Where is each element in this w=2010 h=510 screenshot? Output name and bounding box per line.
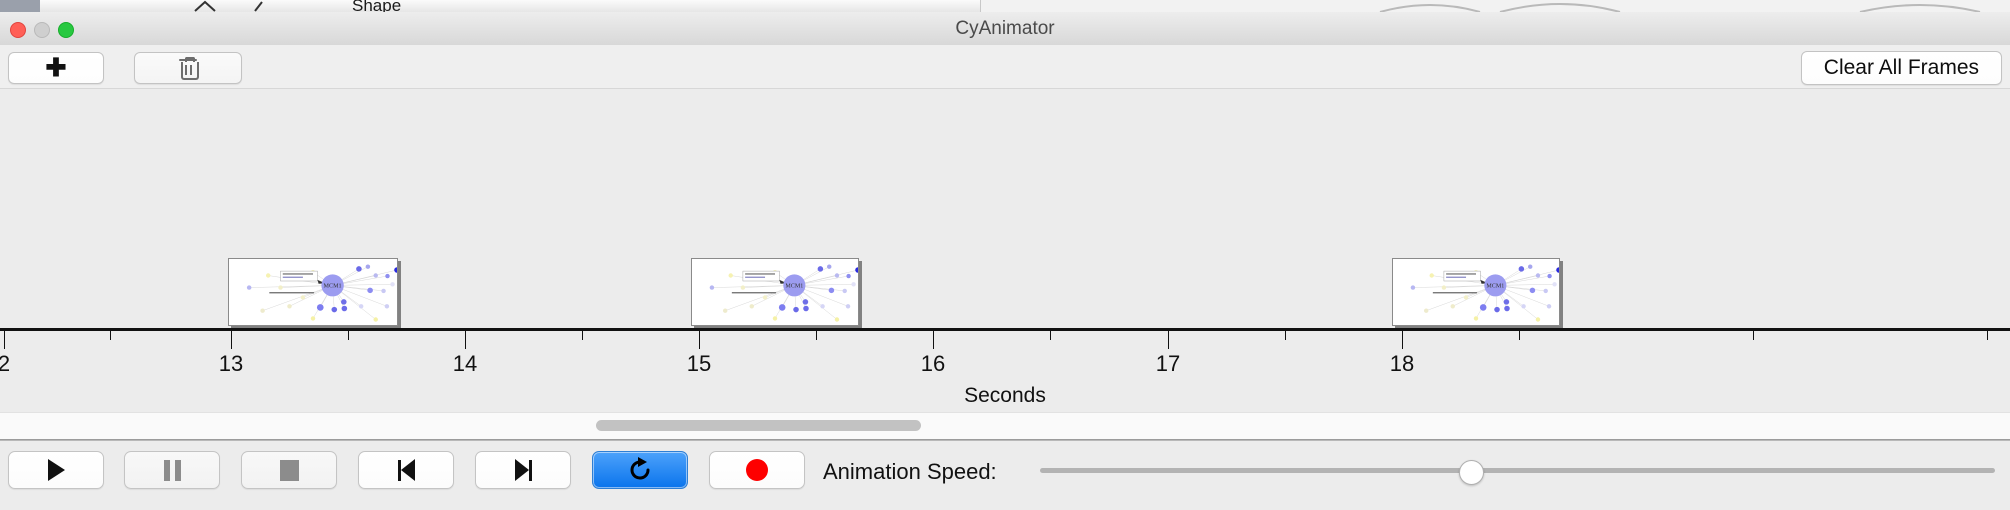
ruler-tick-label: 15: [687, 351, 711, 377]
ruler-tick-label: 17: [1156, 351, 1180, 377]
skip-forward-icon: [515, 459, 532, 481]
network-graph: MCM1: [229, 259, 397, 325]
stop-icon: [280, 460, 299, 481]
pause-button[interactable]: [124, 451, 220, 489]
keyframe-thumbnail[interactable]: MCM1: [228, 258, 398, 326]
ruler-major-tick: [1168, 331, 1169, 349]
skip-to-end-button[interactable]: [475, 451, 571, 489]
axis-title: Seconds: [0, 384, 2010, 408]
record-button[interactable]: [709, 451, 805, 489]
clear-all-frames-button[interactable]: Clear All Frames: [1801, 51, 2002, 85]
svg-text:MCM1: MCM1: [1486, 284, 1504, 290]
svg-text:MCM1: MCM1: [324, 284, 342, 290]
ruler-minor-tick: [1987, 331, 1988, 340]
animation-speed-thumb[interactable]: [1459, 460, 1484, 485]
ruler-major-tick: [231, 331, 232, 349]
cyanimator-window: Shape CyAnimator ✚: [0, 0, 2010, 510]
ruler-minor-tick: [110, 331, 111, 340]
ruler-baseline: [0, 328, 2010, 331]
delete-frame-button[interactable]: [134, 52, 242, 84]
loop-icon: [627, 457, 653, 483]
ruler-minor-tick: [1519, 331, 1520, 340]
ruler-tick-label: 16: [921, 351, 945, 377]
track-divider: [0, 88, 2010, 89]
pause-icon: [164, 460, 181, 481]
ruler-major-tick: [699, 331, 700, 349]
ruler-minor-tick: [816, 331, 817, 340]
ruler-tick-label: 14: [453, 351, 477, 377]
ruler-tick-label: 2: [0, 351, 10, 377]
keyframe-thumbnail[interactable]: MCM1: [1392, 258, 1560, 326]
svg-text:MCM1: MCM1: [785, 284, 803, 290]
playback-controls: Animation Speed:: [0, 440, 2010, 510]
ruler-major-tick: [465, 331, 466, 349]
ruler-minor-tick: [1753, 331, 1754, 340]
stop-button[interactable]: [241, 451, 337, 489]
ruler-major-tick: [4, 331, 5, 349]
play-icon: [48, 459, 65, 481]
network-graph: MCM1: [1393, 259, 1559, 325]
ruler-minor-tick: [348, 331, 349, 340]
ruler-major-tick: [933, 331, 934, 349]
skip-back-icon: [398, 459, 415, 481]
ruler-tick-label: 18: [1390, 351, 1414, 377]
record-icon: [746, 459, 768, 481]
toolbar: ✚ Clear All Frames: [0, 45, 2010, 89]
plus-icon: ✚: [46, 56, 67, 81]
network-graph: MCM1: [692, 259, 858, 325]
ruler-minor-tick: [1285, 331, 1286, 340]
ruler-minor-tick: [582, 331, 583, 340]
trash-icon: [178, 57, 198, 79]
scrollbar-thumb[interactable]: [596, 420, 921, 431]
horizontal-scrollbar[interactable]: [0, 412, 2010, 440]
background-network-curves: [0, 0, 2010, 12]
timeline-track[interactable]: MCM1MCM1MCM1 2131415161718 Seconds: [0, 88, 2010, 408]
clear-all-frames-label: Clear All Frames: [1824, 56, 1979, 80]
skip-to-start-button[interactable]: [358, 451, 454, 489]
title-bar[interactable]: CyAnimator: [0, 12, 2010, 46]
animation-speed-slider[interactable]: [1040, 468, 1995, 473]
animation-speed-label: Animation Speed:: [823, 459, 997, 485]
add-frame-button[interactable]: ✚: [8, 52, 104, 84]
loop-button[interactable]: [592, 451, 688, 489]
keyframe-thumbnail[interactable]: MCM1: [691, 258, 859, 326]
ruler-major-tick: [1402, 331, 1403, 349]
ruler-minor-tick: [1050, 331, 1051, 340]
window-title: CyAnimator: [0, 18, 2010, 40]
timeline-ruler[interactable]: 2131415161718 Seconds: [0, 328, 2010, 398]
play-button[interactable]: [8, 451, 104, 489]
ruler-tick-label: 13: [219, 351, 243, 377]
